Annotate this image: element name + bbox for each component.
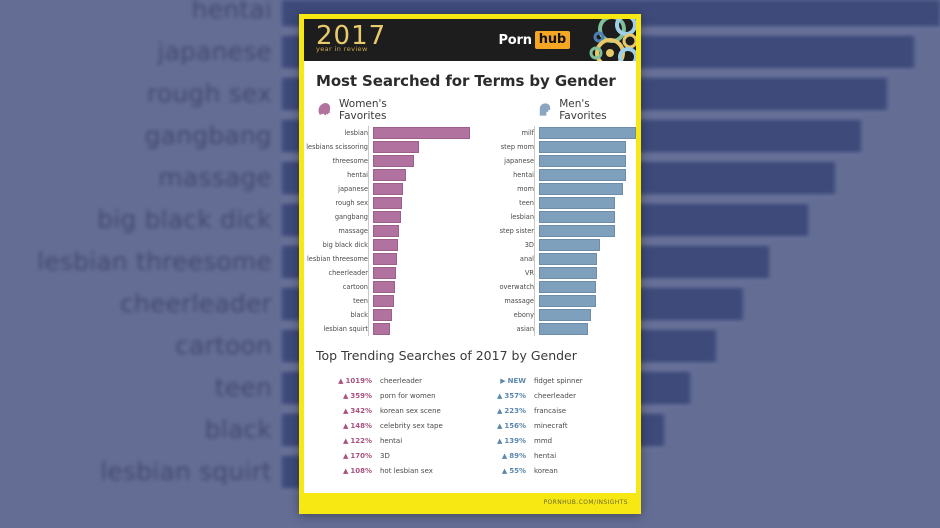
chart-bar bbox=[539, 197, 615, 209]
chart-bar bbox=[539, 183, 623, 195]
chart-row-bar-wrap bbox=[539, 182, 636, 196]
chart-row-label: mom bbox=[470, 185, 539, 193]
trending-term: 3D bbox=[380, 452, 390, 460]
chart-bar bbox=[539, 281, 596, 293]
decorative-circles-svg bbox=[566, 19, 636, 61]
chart-row-label: step mom bbox=[470, 143, 539, 151]
chart-row-label: 3D bbox=[470, 241, 539, 249]
chart-bar bbox=[373, 323, 390, 335]
chart-row-label: gangbang bbox=[304, 213, 373, 221]
trending-percent-value: 89% bbox=[509, 452, 526, 460]
chart-row-bar-wrap bbox=[539, 238, 636, 252]
trending-row: ▲1019%cheerleader bbox=[316, 373, 470, 388]
trending-percent-value: 108% bbox=[350, 467, 372, 475]
chart-row-label: massage bbox=[304, 227, 373, 235]
trending-term: cheerleader bbox=[380, 377, 422, 385]
chart-row: overwatch bbox=[470, 280, 636, 294]
trending-row: ▲55%korean bbox=[470, 463, 624, 478]
chart-bar bbox=[373, 127, 470, 139]
trending-term: cheerleader bbox=[534, 392, 576, 400]
background-row-label: black bbox=[0, 415, 282, 444]
trend-up-icon: ▲ bbox=[343, 422, 348, 430]
chart-bar bbox=[373, 309, 392, 321]
chart-row-label: black bbox=[304, 311, 373, 319]
chart-bar bbox=[373, 253, 397, 265]
chart-row-bar-wrap bbox=[373, 308, 470, 322]
chart-row-label: massage bbox=[470, 297, 539, 305]
background-row-label: big black dick bbox=[0, 205, 282, 234]
new-marker-icon: ▶ bbox=[500, 377, 505, 385]
trending-term: porn for women bbox=[380, 392, 436, 400]
chart-row-label: teen bbox=[470, 199, 539, 207]
trending-list-men: ▶NEWfidget spinner▲357%cheerleader▲223%f… bbox=[470, 373, 624, 478]
chart-row: asian bbox=[470, 322, 636, 336]
chart-row-label: milf bbox=[470, 129, 539, 137]
chart-row-label: lesbian bbox=[304, 129, 373, 137]
trend-up-icon: ▲ bbox=[338, 377, 343, 385]
trending-percent: ▲108% bbox=[316, 467, 380, 475]
chart-axis-women bbox=[368, 126, 369, 336]
chart-row: massage bbox=[470, 294, 636, 308]
trending-percent: ▲55% bbox=[470, 467, 534, 475]
chart-row-label: ebony bbox=[470, 311, 539, 319]
trending-percent-value: 357% bbox=[504, 392, 526, 400]
trending-percent-value: 359% bbox=[350, 392, 372, 400]
chart-row: 3D bbox=[470, 238, 636, 252]
chart-row-bar-wrap bbox=[539, 266, 636, 280]
chart-row-label: cartoon bbox=[304, 283, 373, 291]
chart-bar bbox=[539, 309, 591, 321]
chart-row-bar-wrap bbox=[373, 252, 470, 266]
trending-row: ▲148%celebrity sex tape bbox=[316, 418, 470, 433]
chart-bar bbox=[539, 127, 636, 139]
chart-row: lesbian threesome bbox=[304, 252, 470, 266]
trending-percent: ▲156% bbox=[470, 422, 534, 430]
chart-row-bar-wrap bbox=[539, 140, 636, 154]
chart-row-label: japanese bbox=[470, 157, 539, 165]
chart-row-label: lesbians scissoring bbox=[304, 143, 373, 151]
trending-percent: ▲342% bbox=[316, 407, 380, 415]
chart-row: ebony bbox=[470, 308, 636, 322]
chart-row-bar-wrap bbox=[373, 294, 470, 308]
chart-row-label: overwatch bbox=[470, 283, 539, 291]
chart-bar bbox=[373, 183, 403, 195]
page-title: Most Searched for Terms by Gender bbox=[316, 72, 636, 90]
chart-row-bar-wrap bbox=[539, 224, 636, 238]
chart-row-label: cheerleader bbox=[304, 269, 373, 277]
legend: Women's Favorites Men's Favorites bbox=[316, 98, 636, 122]
trend-up-icon: ▲ bbox=[497, 437, 502, 445]
trending-term: hentai bbox=[380, 437, 402, 445]
chart-row-label: anal bbox=[470, 255, 539, 263]
chart-bar bbox=[373, 267, 396, 279]
trending-percent: ▲1019% bbox=[316, 377, 380, 385]
chart-row: japanese bbox=[304, 182, 470, 196]
chart-row-label: threesome bbox=[304, 157, 373, 165]
background-row-label: japanese bbox=[0, 37, 282, 66]
year-block: 2017 year in review bbox=[316, 23, 386, 53]
chart-row: VR bbox=[470, 266, 636, 280]
chart-bar bbox=[373, 211, 401, 223]
background-row-label: lesbian threesome bbox=[0, 247, 282, 276]
trending-percent: ▲89% bbox=[470, 452, 534, 460]
card-header: 2017 year in review Porn hub bbox=[304, 19, 636, 61]
trending-percent: ▲170% bbox=[316, 452, 380, 460]
chart-row-bar-wrap bbox=[373, 266, 470, 280]
chart-row: step sister bbox=[470, 224, 636, 238]
trending-row: ▲139%mmd bbox=[470, 433, 624, 448]
trending-percent-value: 223% bbox=[504, 407, 526, 415]
chart-row-bar-wrap bbox=[373, 210, 470, 224]
background-row-label: cartoon bbox=[0, 331, 282, 360]
trend-up-icon: ▲ bbox=[343, 467, 348, 475]
chart-row: cheerleader bbox=[304, 266, 470, 280]
chart-row-bar-wrap bbox=[539, 308, 636, 322]
chart-row: massage bbox=[304, 224, 470, 238]
chart-row: mom bbox=[470, 182, 636, 196]
chart-bar bbox=[373, 239, 398, 251]
legend-label-women: Women's Favorites bbox=[339, 98, 432, 122]
woman-head-icon bbox=[316, 101, 333, 119]
trending-term: hentai bbox=[534, 452, 556, 460]
chart-row: japanese bbox=[470, 154, 636, 168]
trending-term: korean sex scene bbox=[380, 407, 441, 415]
trending-row: ▲357%cheerleader bbox=[470, 388, 624, 403]
chart-row-label: asian bbox=[470, 325, 539, 333]
trending-percent-value: NEW bbox=[508, 377, 526, 385]
chart-row-bar-wrap bbox=[539, 252, 636, 266]
chart-row-bar-wrap bbox=[373, 126, 470, 140]
bar-charts: lesbianlesbians scissoringthreesomehenta… bbox=[304, 126, 636, 336]
trend-up-icon: ▲ bbox=[502, 452, 507, 460]
legend-item-women: Women's Favorites bbox=[316, 98, 432, 122]
legend-item-men: Men's Favorites bbox=[536, 98, 636, 122]
chart-bar bbox=[539, 225, 615, 237]
trending-term: francaise bbox=[534, 407, 566, 415]
chart-row-bar-wrap bbox=[373, 280, 470, 294]
chart-row: cartoon bbox=[304, 280, 470, 294]
chart-row: step mom bbox=[470, 140, 636, 154]
chart-row: lesbian bbox=[304, 126, 470, 140]
legend-label-men: Men's Favorites bbox=[559, 98, 636, 122]
chart-bar bbox=[539, 239, 600, 251]
chart-bar bbox=[373, 197, 402, 209]
trending-row: ▲89%hentai bbox=[470, 448, 624, 463]
chart-womens-favorites: lesbianlesbians scissoringthreesomehenta… bbox=[304, 126, 470, 336]
chart-row: lesbians scissoring bbox=[304, 140, 470, 154]
chart-row: big black dick bbox=[304, 238, 470, 252]
chart-row: milf bbox=[470, 126, 636, 140]
chart-row-label: lesbian squirt bbox=[304, 325, 373, 333]
decorative-circles bbox=[566, 19, 636, 61]
background-row-label: massage bbox=[0, 163, 282, 192]
chart-bar bbox=[373, 295, 394, 307]
trending-percent: ▶NEW bbox=[470, 377, 534, 385]
man-head-icon bbox=[536, 101, 553, 119]
chart-row-label: hentai bbox=[470, 171, 539, 179]
pornhub-logo: Porn hub bbox=[498, 31, 570, 49]
chart-row-label: step sister bbox=[470, 227, 539, 235]
chart-row: teen bbox=[470, 196, 636, 210]
chart-row-bar-wrap bbox=[539, 210, 636, 224]
trending-percent: ▲139% bbox=[470, 437, 534, 445]
trending-row: ▲342%korean sex scene bbox=[316, 403, 470, 418]
chart-row: rough sex bbox=[304, 196, 470, 210]
chart-bar bbox=[539, 295, 596, 307]
chart-mens-favorites: milfstep momjapanesehentaimomteenlesbian… bbox=[470, 126, 636, 336]
chart-row-label: rough sex bbox=[304, 199, 373, 207]
trend-up-icon: ▲ bbox=[497, 422, 502, 430]
trending-percent-value: 1019% bbox=[346, 377, 373, 385]
trend-up-icon: ▲ bbox=[497, 407, 502, 415]
trending-list-women: ▲1019%cheerleader▲359%porn for women▲342… bbox=[316, 373, 470, 478]
chart-row: hentai bbox=[304, 168, 470, 182]
logo-text-porn: Porn bbox=[498, 33, 531, 48]
trending-percent: ▲357% bbox=[470, 392, 534, 400]
footer-url: PORNHUB.COM/INSIGHTS bbox=[543, 499, 628, 506]
trending-percent-value: 148% bbox=[350, 422, 372, 430]
chart-row-bar-wrap bbox=[539, 196, 636, 210]
background-row-label: teen bbox=[0, 373, 282, 402]
trending-term: hot lesbian sex bbox=[380, 467, 433, 475]
chart-row-label: teen bbox=[304, 297, 373, 305]
chart-row-bar-wrap bbox=[539, 294, 636, 308]
chart-row-bar-wrap bbox=[373, 322, 470, 336]
chart-bar bbox=[539, 253, 597, 265]
trending-percent: ▲122% bbox=[316, 437, 380, 445]
chart-bar bbox=[539, 155, 626, 167]
trending-row: ▲156%minecraft bbox=[470, 418, 624, 433]
chart-axis-men bbox=[534, 126, 535, 336]
trending-percent-value: 170% bbox=[350, 452, 372, 460]
chart-row-bar-wrap bbox=[373, 168, 470, 182]
trending-row: ▲359%porn for women bbox=[316, 388, 470, 403]
chart-row-bar-wrap bbox=[539, 280, 636, 294]
chart-bar bbox=[539, 211, 615, 223]
logo-text-hub: hub bbox=[535, 31, 570, 49]
background-row-label: gangbang bbox=[0, 121, 282, 150]
chart-row-bar-wrap bbox=[373, 224, 470, 238]
trending-term: fidget spinner bbox=[534, 377, 583, 385]
chart-row-bar-wrap bbox=[539, 126, 636, 140]
trending-lists: ▲1019%cheerleader▲359%porn for women▲342… bbox=[304, 373, 636, 478]
trending-percent-value: 139% bbox=[504, 437, 526, 445]
chart-bar bbox=[373, 169, 406, 181]
chart-row-label: japanese bbox=[304, 185, 373, 193]
chart-row: hentai bbox=[470, 168, 636, 182]
background-row-label: rough sex bbox=[0, 79, 282, 108]
chart-bar bbox=[539, 323, 588, 335]
trending-percent: ▲148% bbox=[316, 422, 380, 430]
trending-row: ▲122%hentai bbox=[316, 433, 470, 448]
trending-title: Top Trending Searches of 2017 by Gender bbox=[316, 348, 636, 363]
chart-row: lesbian bbox=[470, 210, 636, 224]
chart-row-bar-wrap bbox=[539, 322, 636, 336]
trending-term: minecraft bbox=[534, 422, 568, 430]
trend-up-icon: ▲ bbox=[343, 392, 348, 400]
chart-bar bbox=[373, 225, 399, 237]
trending-percent-value: 55% bbox=[509, 467, 526, 475]
trending-percent-value: 342% bbox=[350, 407, 372, 415]
chart-row-bar-wrap bbox=[373, 182, 470, 196]
chart-row-label: big black dick bbox=[304, 241, 373, 249]
background-row-label: lesbian squirt bbox=[0, 457, 282, 486]
background-row-label: hentai bbox=[0, 0, 282, 24]
trend-up-icon: ▲ bbox=[343, 407, 348, 415]
chart-bar bbox=[373, 141, 419, 153]
trending-row: ▲170%3D bbox=[316, 448, 470, 463]
trending-row: ▲223%francaise bbox=[470, 403, 624, 418]
chart-row-label: lesbian threesome bbox=[304, 255, 373, 263]
infographic-card: 2017 year in review Porn hub Most Search… bbox=[299, 14, 641, 514]
trend-up-icon: ▲ bbox=[343, 437, 348, 445]
chart-row-bar-wrap bbox=[539, 168, 636, 182]
chart-row-bar-wrap bbox=[373, 196, 470, 210]
chart-row-bar-wrap bbox=[373, 238, 470, 252]
trending-term: mmd bbox=[534, 437, 552, 445]
trending-term: korean bbox=[534, 467, 558, 475]
trending-percent: ▲359% bbox=[316, 392, 380, 400]
chart-row: black bbox=[304, 308, 470, 322]
chart-bar bbox=[373, 155, 414, 167]
chart-row: threesome bbox=[304, 154, 470, 168]
chart-bar bbox=[539, 169, 626, 181]
trending-percent-value: 156% bbox=[504, 422, 526, 430]
chart-bar bbox=[373, 281, 395, 293]
trending-row: ▶NEWfidget spinner bbox=[470, 373, 624, 388]
trending-row: ▲108%hot lesbian sex bbox=[316, 463, 470, 478]
chart-row-bar-wrap bbox=[539, 154, 636, 168]
chart-row: lesbian squirt bbox=[304, 322, 470, 336]
trend-up-icon: ▲ bbox=[502, 467, 507, 475]
chart-row-bar-wrap bbox=[373, 140, 470, 154]
chart-row-label: VR bbox=[470, 269, 539, 277]
trending-percent-value: 122% bbox=[350, 437, 372, 445]
chart-bar bbox=[539, 141, 626, 153]
trending-percent: ▲223% bbox=[470, 407, 534, 415]
trend-up-icon: ▲ bbox=[343, 452, 348, 460]
background-row-label: cheerleader bbox=[0, 289, 282, 318]
trending-term: celebrity sex tape bbox=[380, 422, 443, 430]
trend-up-icon: ▲ bbox=[497, 392, 502, 400]
chart-row-label: lesbian bbox=[470, 213, 539, 221]
card-footer: PORNHUB.COM/INSIGHTS bbox=[304, 493, 636, 509]
chart-row-label: hentai bbox=[304, 171, 373, 179]
chart-bar bbox=[539, 267, 597, 279]
chart-row: gangbang bbox=[304, 210, 470, 224]
chart-row: teen bbox=[304, 294, 470, 308]
chart-row-bar-wrap bbox=[373, 154, 470, 168]
chart-row: anal bbox=[470, 252, 636, 266]
